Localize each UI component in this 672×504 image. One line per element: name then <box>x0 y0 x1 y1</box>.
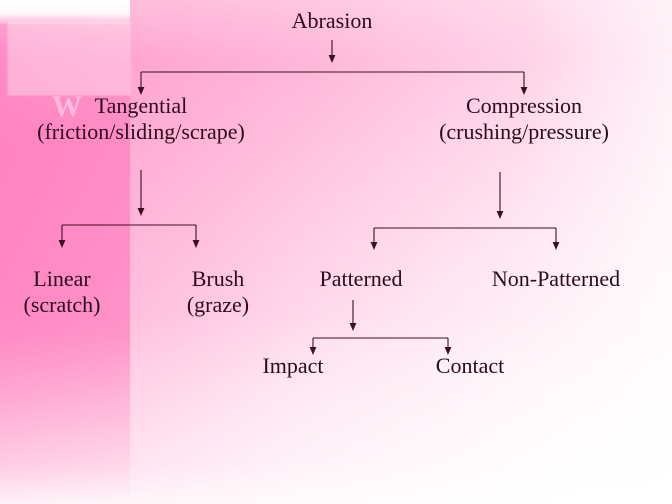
node-patterned[interactable]: Patterned <box>319 266 402 292</box>
node-brush-label: Brush <box>192 266 245 291</box>
slide-canvas: W <box>0 0 672 504</box>
node-contact-label: Contact <box>436 353 504 378</box>
node-linear[interactable]: Linear (scratch) <box>24 266 101 318</box>
connector-compression-stem <box>497 172 504 219</box>
connector-tangential-stem <box>138 170 145 216</box>
connector-tangential-split <box>59 225 200 248</box>
node-linear-label: Linear <box>33 266 90 291</box>
node-compression-label: Compression <box>466 93 582 118</box>
node-non-patterned-label: Non-Patterned <box>492 266 620 291</box>
connector-compression-split <box>371 228 560 250</box>
node-brush[interactable]: Brush (graze) <box>187 266 249 318</box>
node-linear-sublabel: (scratch) <box>24 292 101 318</box>
connector-patterned-stem <box>350 300 357 331</box>
node-non-patterned[interactable]: Non-Patterned <box>492 266 620 292</box>
node-impact-label: Impact <box>262 353 323 378</box>
node-abrasion[interactable]: Abrasion <box>292 8 373 34</box>
connector-abrasion-stem <box>329 40 336 63</box>
connector-patterned-split <box>310 338 452 355</box>
abrasion-flowchart: Abrasion Tangential (friction/sliding/sc… <box>0 0 672 504</box>
node-brush-sublabel: (graze) <box>187 292 249 318</box>
node-tangential[interactable]: Tangential (friction/sliding/scrape) <box>37 93 245 145</box>
node-impact[interactable]: Impact <box>262 353 323 379</box>
node-compression[interactable]: Compression (crushing/pressure) <box>439 93 609 145</box>
node-patterned-label: Patterned <box>319 266 402 291</box>
node-compression-sublabel: (crushing/pressure) <box>439 119 609 145</box>
node-contact[interactable]: Contact <box>436 353 504 379</box>
node-tangential-sublabel: (friction/sliding/scrape) <box>37 119 245 145</box>
node-abrasion-label: Abrasion <box>292 8 373 33</box>
connector-abrasion-split <box>138 72 528 95</box>
flowchart-connectors <box>0 0 672 504</box>
node-tangential-label: Tangential <box>95 93 188 118</box>
